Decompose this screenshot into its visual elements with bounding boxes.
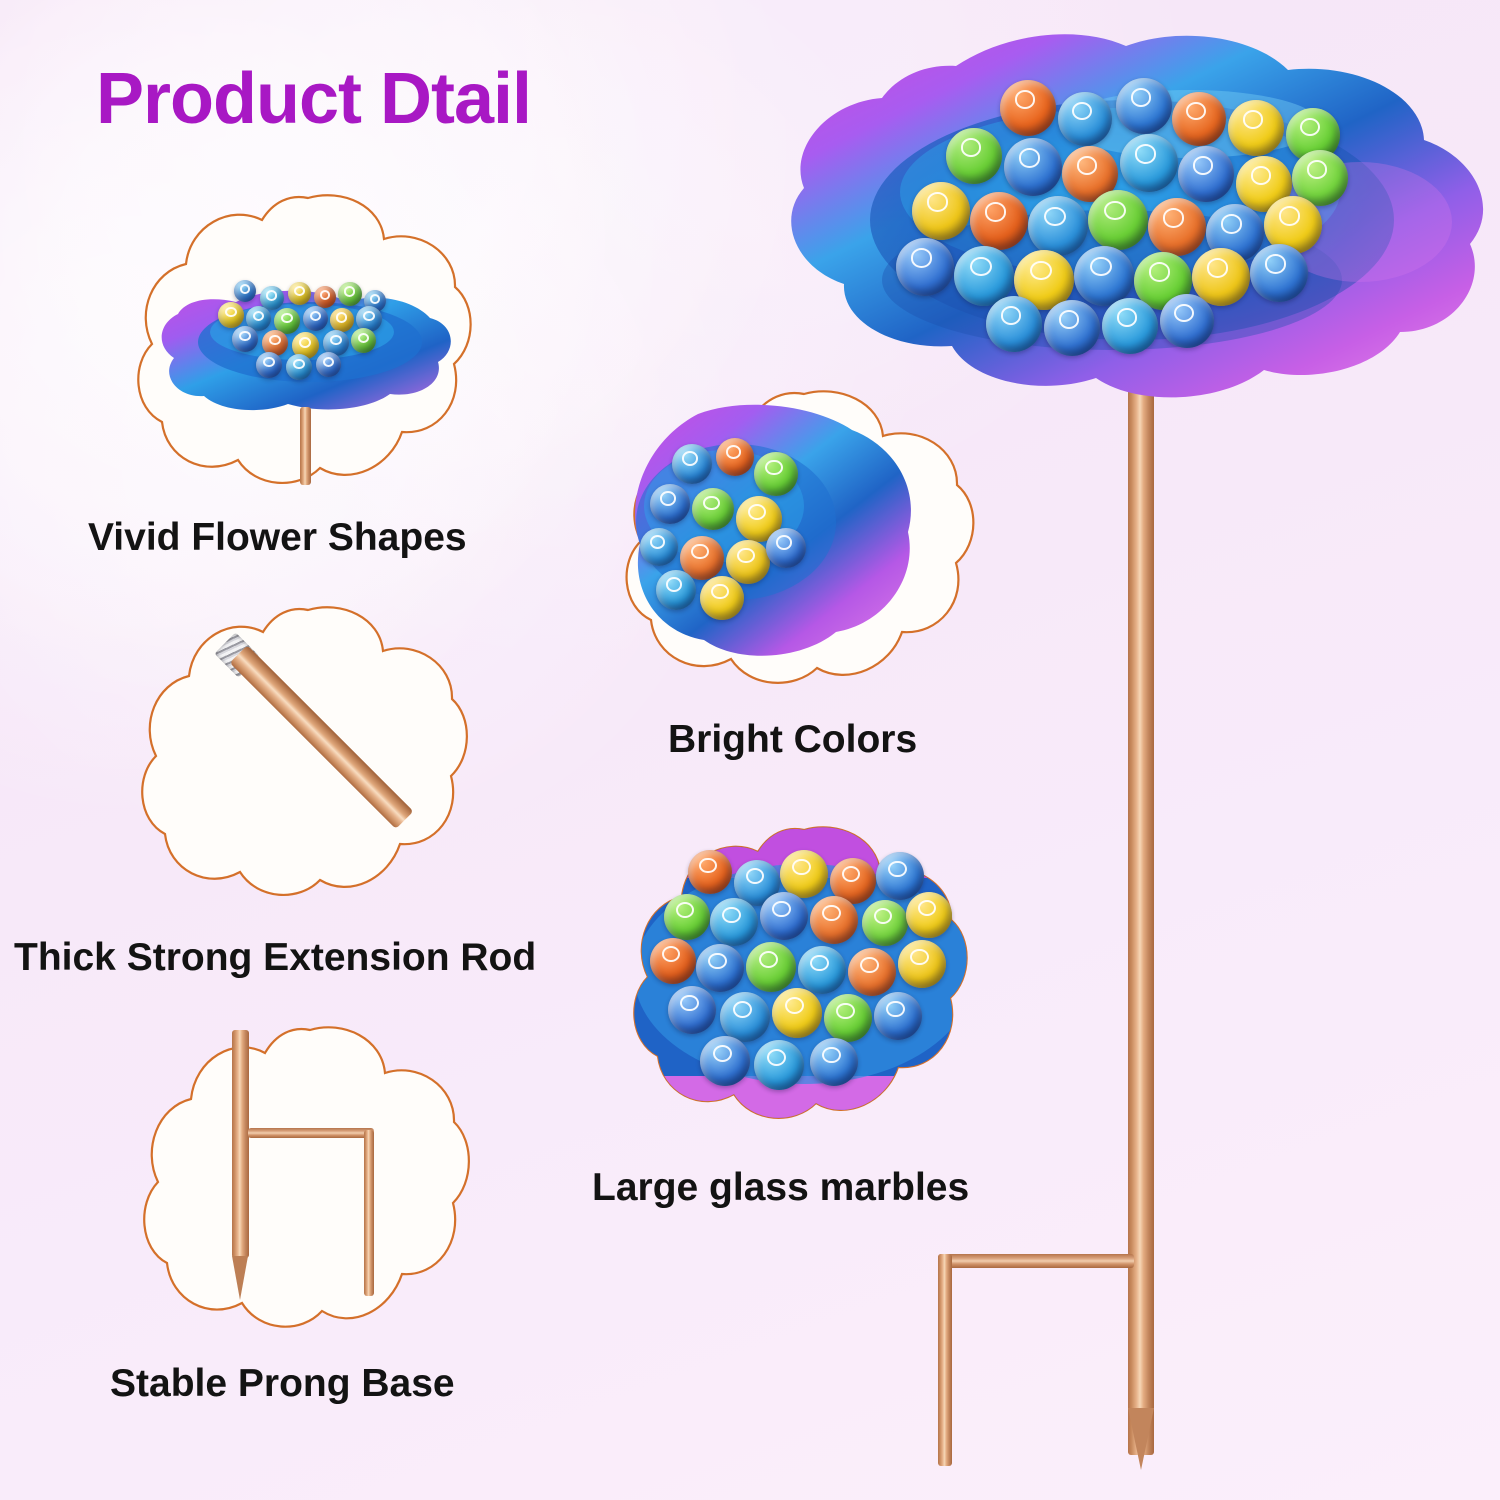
marble bbox=[234, 280, 256, 302]
marble bbox=[692, 488, 734, 530]
marble bbox=[1172, 92, 1226, 146]
marble bbox=[286, 354, 312, 380]
marble bbox=[1160, 294, 1214, 348]
marble bbox=[650, 484, 690, 524]
marble bbox=[824, 994, 872, 1042]
marble bbox=[696, 944, 744, 992]
marble bbox=[766, 528, 806, 568]
brace-right-leg bbox=[364, 1130, 374, 1296]
marble bbox=[754, 1040, 804, 1090]
marble bbox=[896, 238, 954, 296]
marble bbox=[780, 850, 828, 898]
marble bbox=[1000, 80, 1056, 136]
marble bbox=[772, 988, 822, 1038]
marble bbox=[288, 282, 311, 305]
caption-large-glass-marbles: Large glass marbles bbox=[592, 1166, 969, 1210]
marble bbox=[1028, 196, 1088, 256]
marble bbox=[351, 328, 376, 353]
marble bbox=[672, 444, 712, 484]
marble bbox=[1116, 78, 1172, 134]
feature-card-rod bbox=[142, 604, 474, 904]
marble bbox=[668, 986, 716, 1034]
marble bbox=[303, 306, 328, 331]
hero-stake-tip bbox=[1128, 1408, 1154, 1470]
feature-image-rod bbox=[142, 604, 474, 904]
feature-card-vivid bbox=[138, 192, 478, 492]
marble bbox=[720, 992, 770, 1042]
marble bbox=[218, 302, 244, 328]
feature-card-bright bbox=[626, 388, 982, 692]
marble bbox=[1178, 146, 1234, 202]
marble bbox=[640, 528, 678, 566]
feature-card-marbles bbox=[634, 824, 974, 1126]
marble bbox=[700, 1036, 750, 1086]
feature-image-vivid bbox=[138, 192, 478, 492]
marble bbox=[330, 308, 354, 332]
marble bbox=[664, 894, 710, 940]
page-title: Product Dtail bbox=[96, 58, 531, 140]
marble bbox=[798, 946, 846, 994]
marble bbox=[874, 992, 922, 1040]
marble bbox=[700, 576, 744, 620]
marble bbox=[1228, 100, 1284, 156]
marble bbox=[986, 296, 1042, 352]
brace-top-bar bbox=[248, 1128, 374, 1138]
marble bbox=[970, 192, 1028, 250]
marble bbox=[862, 900, 908, 946]
feature-image-bright bbox=[626, 388, 982, 692]
extension-rod bbox=[230, 645, 414, 829]
caption-vivid-flower-shapes: Vivid Flower Shapes bbox=[88, 516, 467, 560]
marble bbox=[656, 570, 696, 610]
marble bbox=[726, 540, 770, 584]
marble bbox=[710, 898, 758, 946]
marble bbox=[1148, 198, 1206, 256]
main-stake bbox=[232, 1030, 249, 1258]
marble bbox=[754, 452, 798, 496]
marble bbox=[898, 940, 946, 988]
marble bbox=[1088, 190, 1148, 250]
caption-extension-rod: Thick Strong Extension Rod bbox=[14, 936, 536, 980]
marble bbox=[810, 1038, 858, 1086]
marble bbox=[650, 938, 696, 984]
marble bbox=[906, 892, 952, 938]
marble bbox=[314, 286, 336, 308]
marble bbox=[876, 852, 924, 900]
hero-brace-top bbox=[938, 1254, 1134, 1268]
marble bbox=[1004, 138, 1062, 196]
stake-tip bbox=[232, 1256, 248, 1300]
feature-card-prong bbox=[144, 1024, 476, 1336]
marble bbox=[1058, 92, 1112, 146]
marble bbox=[912, 182, 970, 240]
marble bbox=[810, 896, 858, 944]
marble bbox=[256, 352, 282, 378]
feature-image-marbles bbox=[634, 824, 974, 1126]
support-rod bbox=[300, 407, 311, 485]
marble bbox=[946, 128, 1002, 184]
marble bbox=[338, 282, 362, 306]
marble bbox=[688, 850, 732, 894]
feature-image-prong bbox=[144, 1024, 476, 1336]
marble bbox=[760, 892, 808, 940]
marble bbox=[1120, 134, 1178, 192]
marble bbox=[1250, 244, 1308, 302]
caption-stable-prong-base: Stable Prong Base bbox=[110, 1362, 455, 1406]
marble bbox=[716, 438, 754, 476]
marble bbox=[848, 948, 896, 996]
hero-brace-left bbox=[938, 1254, 952, 1466]
marble bbox=[746, 942, 796, 992]
marble bbox=[316, 352, 341, 377]
marble bbox=[1044, 300, 1100, 356]
marble bbox=[232, 326, 258, 352]
caption-bright-colors: Bright Colors bbox=[668, 718, 917, 762]
marble bbox=[1102, 298, 1158, 354]
marble bbox=[1074, 246, 1134, 306]
hero-rod bbox=[1128, 366, 1154, 1261]
